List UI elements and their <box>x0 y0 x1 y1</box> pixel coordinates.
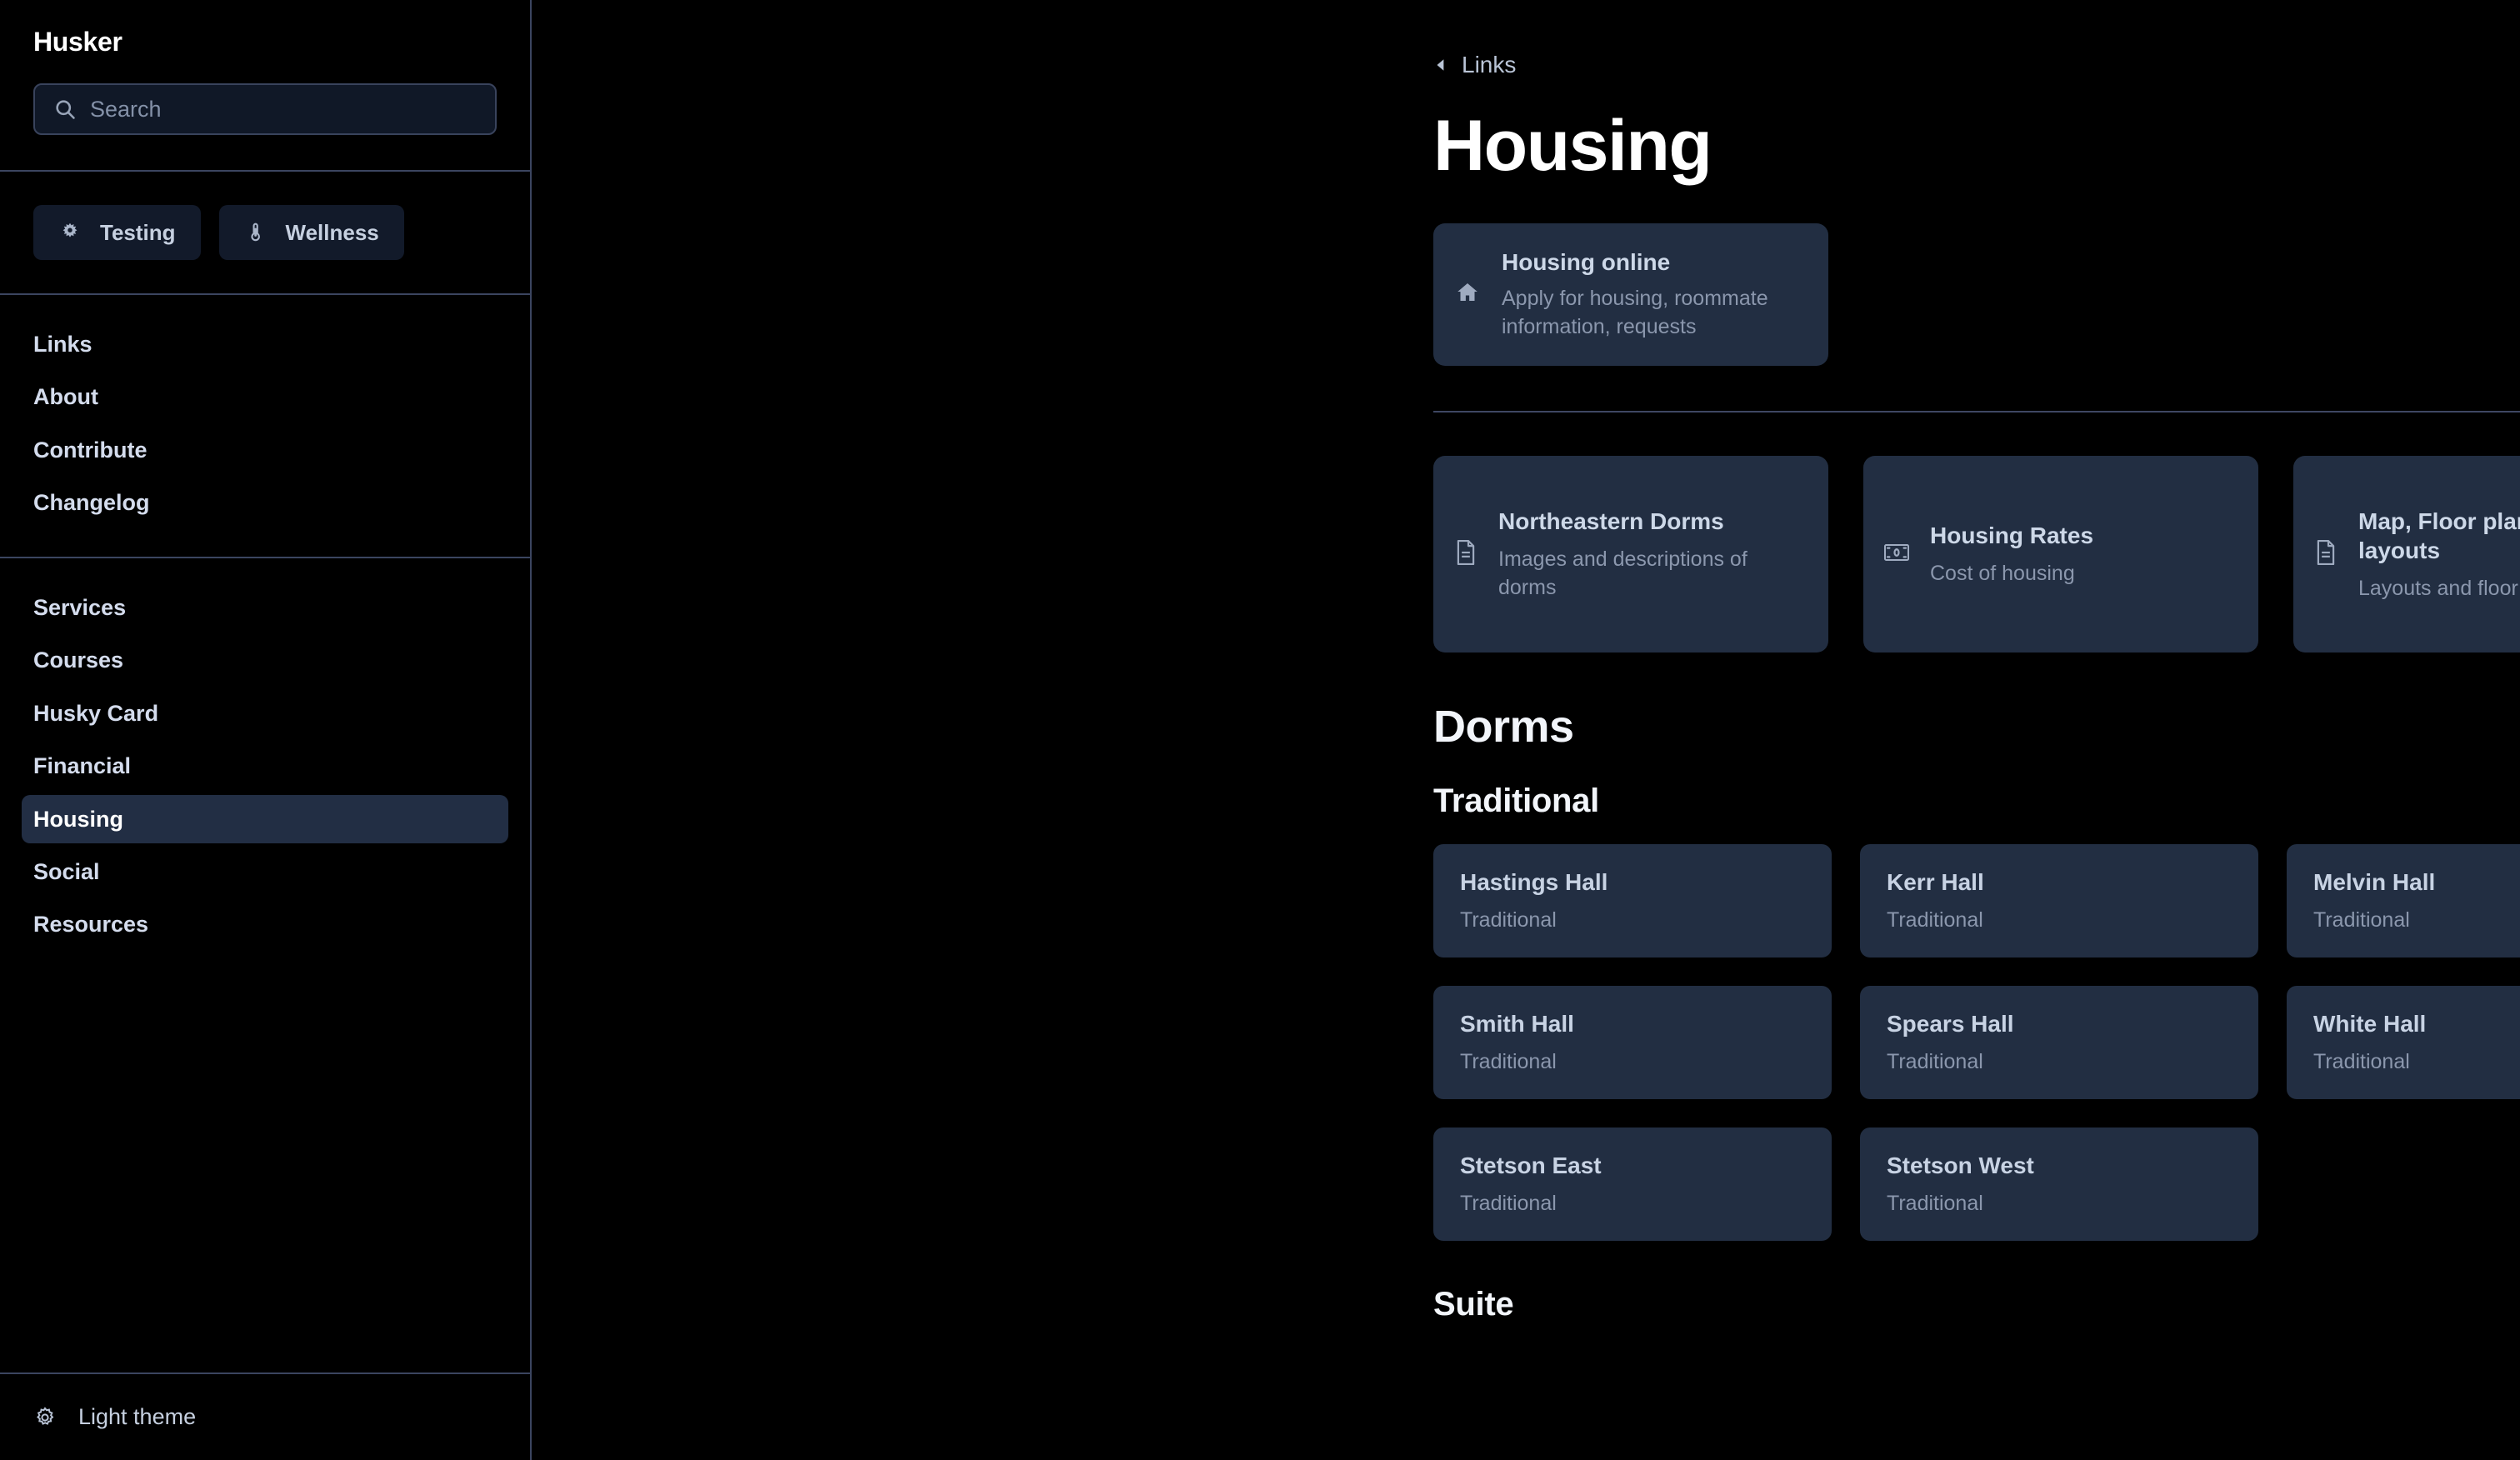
sidebar-item-about[interactable]: About <box>22 372 508 421</box>
theme-toggle-label: Light theme <box>78 1404 196 1430</box>
sidebar-item-husky-card[interactable]: Husky Card <box>22 689 508 737</box>
housing-rates-card[interactable]: Housing Rates Cost of housing <box>1863 456 2258 652</box>
search-box[interactable] <box>33 83 497 135</box>
dorm-type: Traditional <box>1460 1049 1805 1074</box>
dorm-name: Spears Hall <box>1887 1011 2232 1037</box>
suite-subsection-title: Suite <box>1433 1286 2520 1322</box>
dorm-name: Hastings Hall <box>1460 869 1805 896</box>
banknote-icon <box>1883 542 1910 567</box>
dorm-type: Traditional <box>2313 1049 2520 1074</box>
section-divider <box>1433 411 2520 412</box>
dorm-type: Traditional <box>1887 1049 2232 1074</box>
traditional-dorm-grid: Hastings Hall Traditional Kerr Hall Trad… <box>1433 844 2520 1242</box>
gear-icon <box>33 1406 57 1429</box>
dorm-type: Traditional <box>1460 907 1805 932</box>
document-icon <box>2313 538 2338 571</box>
card-title: Map, Floor plan, Room layouts <box>2358 507 2520 565</box>
dorm-name: Smith Hall <box>1460 1011 1805 1037</box>
card-description: Cost of housing <box>1930 560 2093 588</box>
sidebar-header: Husker <box>0 0 530 172</box>
document-icon <box>1453 538 1478 571</box>
wellness-button[interactable]: Wellness <box>219 205 404 260</box>
map-floor-plan-card[interactable]: Map, Floor plan, Room layouts Layouts an… <box>2293 456 2520 652</box>
search-input[interactable] <box>90 85 477 133</box>
card-title: Housing Rates <box>1930 521 2093 550</box>
chevron-left-icon <box>1433 57 1448 72</box>
thermometer-icon <box>244 221 267 244</box>
brand-title: Husker <box>33 28 497 55</box>
dorm-type: Traditional <box>2313 907 2520 932</box>
dorm-type: Traditional <box>1887 907 2232 932</box>
main-content: Links Housing Housing online Apply for h… <box>532 0 2520 1460</box>
sidebar-item-financial[interactable]: Financial <box>22 742 508 790</box>
dorm-type: Traditional <box>1460 1191 1805 1216</box>
virus-icon <box>58 221 82 244</box>
dorm-card[interactable]: Melvin Hall Traditional <box>2287 844 2520 957</box>
sidebar-item-resources[interactable]: Resources <box>22 900 508 948</box>
theme-toggle-button[interactable]: Light theme <box>33 1404 196 1430</box>
breadcrumb-label: Links <box>1462 52 1516 78</box>
testing-button[interactable]: Testing <box>33 205 201 260</box>
sidebar-item-courses[interactable]: Courses <box>22 636 508 684</box>
sidebar-item-changelog[interactable]: Changelog <box>22 478 508 527</box>
testing-button-label: Testing <box>100 220 176 246</box>
sidebar-item-links[interactable]: Links <box>22 320 508 368</box>
sidebar: Husker Testing <box>0 0 532 1460</box>
dorm-card[interactable]: Spears Hall Traditional <box>1860 986 2258 1099</box>
sidebar-nav-secondary: Services Courses Husky Card Financial Ho… <box>0 558 530 978</box>
app-root: Husker Testing <box>0 0 2520 1460</box>
northeastern-dorms-card[interactable]: Northeastern Dorms Images and descriptio… <box>1433 456 1828 652</box>
dorms-section-title: Dorms <box>1433 702 2520 752</box>
housing-online-card[interactable]: Housing online Apply for housing, roomma… <box>1433 223 1828 366</box>
card-description: Images and descriptions of dorms <box>1498 546 1808 602</box>
dorm-card[interactable]: Hastings Hall Traditional <box>1433 844 1832 957</box>
sidebar-item-services[interactable]: Services <box>22 583 508 632</box>
dorm-card[interactable]: Stetson East Traditional <box>1433 1127 1832 1241</box>
dorm-name: Stetson West <box>1887 1152 2232 1179</box>
dorm-card[interactable]: White Hall Traditional <box>2287 986 2520 1099</box>
sidebar-item-social[interactable]: Social <box>22 847 508 896</box>
sidebar-footer: Light theme <box>0 1372 530 1460</box>
traditional-subsection-title: Traditional <box>1433 782 2520 819</box>
dorm-type: Traditional <box>1887 1191 2232 1216</box>
dorm-card[interactable]: Smith Hall Traditional <box>1433 986 1832 1099</box>
wellness-button-label: Wellness <box>286 220 379 246</box>
sidebar-item-housing[interactable]: Housing <box>22 795 508 843</box>
search-icon <box>53 97 77 121</box>
dorm-name: White Hall <box>2313 1011 2520 1037</box>
dorm-name: Kerr Hall <box>1887 869 2232 896</box>
quick-actions: Testing Wellness <box>0 172 530 295</box>
page-title: Housing <box>1433 108 2520 183</box>
dorm-name: Stetson East <box>1460 1152 1805 1179</box>
breadcrumb[interactable]: Links <box>1433 52 1516 78</box>
sidebar-nav-primary: Links About Contribute Changelog <box>0 295 530 558</box>
dorm-name: Melvin Hall <box>2313 869 2520 896</box>
home-icon <box>1455 280 1480 309</box>
card-title: Housing online <box>1502 248 1807 277</box>
sidebar-item-contribute[interactable]: Contribute <box>22 426 508 474</box>
card-description: Apply for housing, roommate information,… <box>1502 285 1807 342</box>
dorm-card[interactable]: Stetson West Traditional <box>1860 1127 2258 1241</box>
housing-link-grid: Northeastern Dorms Images and descriptio… <box>1433 456 2520 652</box>
card-description: Layouts and floor plans of dorms <box>2358 575 2520 603</box>
dorm-card[interactable]: Kerr Hall Traditional <box>1860 844 2258 957</box>
card-title: Northeastern Dorms <box>1498 507 1808 536</box>
